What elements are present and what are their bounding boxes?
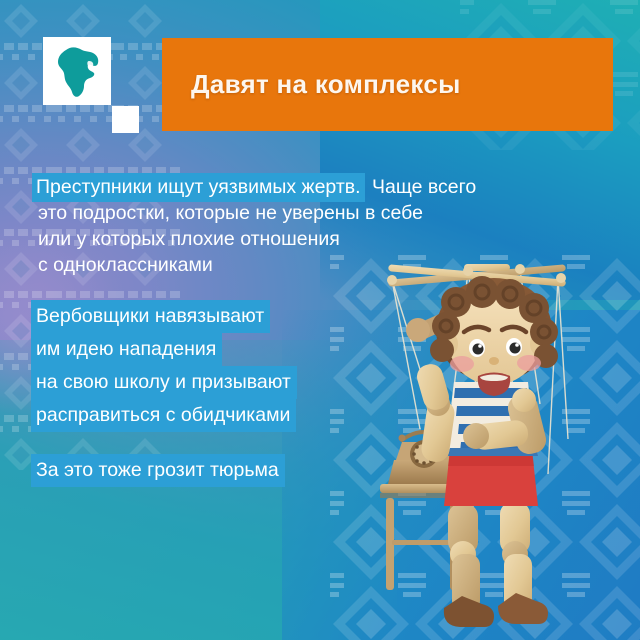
paragraph-1-line-2: это подростки, которые не уверены в себе <box>36 200 425 226</box>
puppet-legs <box>444 502 548 627</box>
title-banner: Давят на комплексы <box>162 38 613 131</box>
blush-left <box>450 356 474 372</box>
paragraph-2-line-4: расправиться с обидчиками <box>31 399 296 432</box>
page-title: Давят на комплексы <box>162 69 461 100</box>
paragraph-2-line-2: им идею нападения <box>31 333 222 366</box>
illustration-marionette <box>372 254 640 640</box>
paragraph-3-line-1: За это тоже грозит тюрьма <box>31 454 285 487</box>
logo <box>43 37 131 125</box>
paragraph-2-line-3: на свою школу и призывают <box>31 366 297 399</box>
plain-text: с одноклассниками <box>36 251 215 280</box>
eye-right <box>510 343 521 354</box>
blush-right <box>517 355 541 371</box>
marionette-svg <box>372 254 640 640</box>
paragraph-1-line-3: или у которых плохие отношения <box>36 226 342 252</box>
highlighted-text: Преступники ищут уязвимых жертв. <box>32 173 365 202</box>
puppet-head <box>430 276 558 396</box>
plain-text: или у которых плохие отношения <box>36 225 342 254</box>
plain-text: Чаще всего <box>365 173 479 202</box>
logo-white-accent-square <box>112 106 139 133</box>
paragraph-1-line-4: с одноклассниками <box>36 252 215 278</box>
belarus-map-icon <box>53 44 103 100</box>
eye-left <box>473 344 484 355</box>
paragraph-1-line-1: Преступники ищут уязвимых жертв. Чаще вс… <box>36 174 478 200</box>
poster-root: Давят на комплексы Преступники ищут уязв… <box>0 0 640 640</box>
plain-text: это подростки, которые не уверены в себе <box>36 199 425 228</box>
paragraph-2-line-1: Вербовщики навязывают <box>31 300 270 333</box>
